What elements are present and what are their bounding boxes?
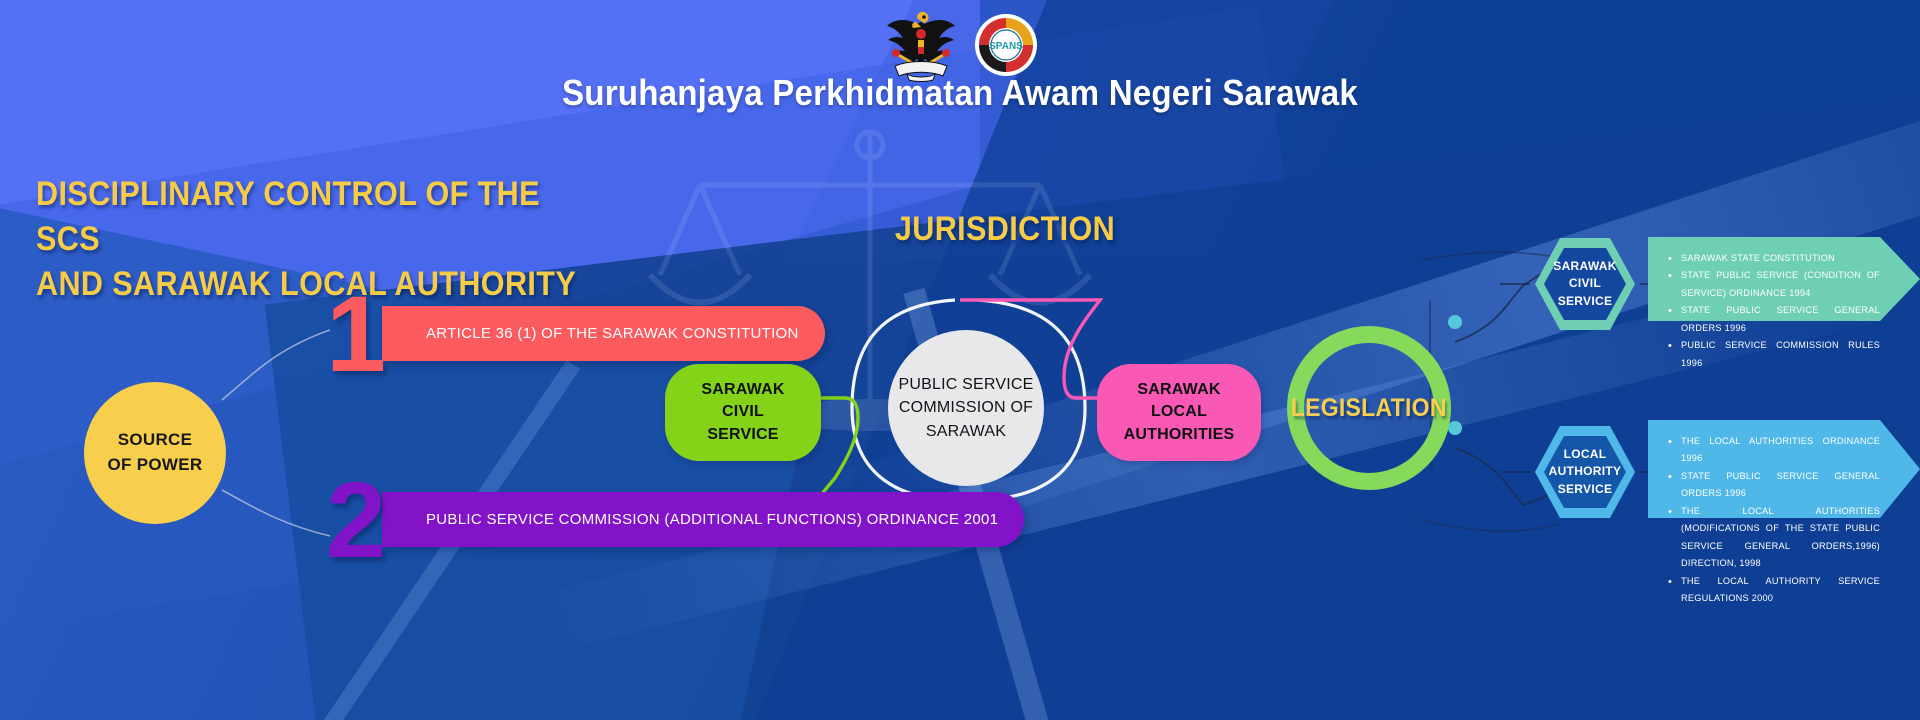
logo-group: SPANS (883, 8, 1037, 82)
background-body-dark (265, 61, 1920, 720)
sarawak-state-crest-icon (883, 8, 959, 82)
list-item: STATE PUBLIC SERVICE GENERAL ORDERS 1996 (1668, 302, 1880, 337)
connector-dot-top (1448, 315, 1462, 329)
hex-local-line-3: SERVICE (1558, 482, 1613, 496)
list-item: THE LOCAL AUTHORITIES (MODIFICATIONS OF … (1668, 503, 1880, 573)
source-item-1: 1 ARTICLE 36 (1) OF THE SARAWAK CONSTITU… (326, 306, 825, 361)
list-item: STATE PUBLIC SERVICE (CONDITION OF SERVI… (1668, 267, 1880, 302)
hexagon-sarawak-civil-service: SARAWAK CIVIL SERVICE (1530, 234, 1640, 334)
page-title: Suruhanjaya Perkhidmatan Awam Negeri Sar… (77, 72, 1843, 114)
hex-civil-line-1: SARAWAK (1553, 259, 1616, 273)
legislation-node: LEGISLATION (1287, 326, 1451, 490)
hex-civil-line-2: CIVIL (1569, 276, 1601, 290)
hexagon-civil-service-label: SARAWAK CIVIL SERVICE (1553, 258, 1616, 310)
list-item: PUBLIC SERVICE COMMISSION RULES 1996 (1668, 337, 1880, 372)
local-authority-legislation-items: THE LOCAL AUTHORITIES ORDINANCE 1996 STA… (1648, 420, 1920, 621)
hexagon-local-authority-service: LOCAL AUTHORITY SERVICE (1530, 422, 1640, 522)
list-item: THE LOCAL AUTHORITY SERVICE REGULATIONS … (1668, 573, 1880, 608)
main-heading-line-1: DISCIPLINARY CONTROL OF THE SCS (36, 172, 612, 262)
source-of-power-line-1: SOURCE (118, 428, 193, 453)
legislation-list-civil-service: SARAWAK STATE CONSTITUTION STATE PUBLIC … (1648, 237, 1920, 321)
hexagon-local-authority-label: LOCAL AUTHORITY SERVICE (1549, 446, 1622, 498)
source-of-power-line-2: OF POWER (108, 453, 203, 478)
list-item: SARAWAK STATE CONSTITUTION (1668, 250, 1880, 267)
source-item-2-label: PUBLIC SERVICE COMMISSION (ADDITIONAL FU… (382, 492, 1024, 547)
source-of-power-node: SOURCE OF POWER (84, 382, 226, 524)
public-service-commission-node: PUBLIC SERVICE COMMISSION OF SARAWAK (888, 330, 1044, 486)
connector-dot-bottom (1448, 421, 1462, 435)
main-heading-line-2: AND SARAWAK LOCAL AUTHORITY (36, 262, 612, 307)
legislation-label: LEGISLATION (1291, 394, 1447, 423)
jurisdiction-sarawak-civil-service: SARAWAK CIVIL SERVICE (665, 364, 821, 461)
list-item: THE LOCAL AUTHORITIES ORDINANCE 1996 (1668, 433, 1880, 468)
spans-logo-icon: SPANS (975, 14, 1037, 76)
spans-logo-text: SPANS (989, 41, 1023, 52)
jurisdiction-sarawak-local-authorities: SARAWAK LOCAL AUTHORITIES (1097, 364, 1261, 461)
jurisdiction-heading: JURISDICTION (857, 210, 1154, 249)
source-item-2-number: 2 (326, 466, 382, 574)
hex-local-line-1: LOCAL (1564, 447, 1607, 461)
page-header: SPANS Suruhanjaya Perkhidmatan Awam Nege… (0, 0, 1920, 140)
source-item-1-label: ARTICLE 36 (1) OF THE SARAWAK CONSTITUTI… (382, 306, 825, 361)
hex-local-line-2: AUTHORITY (1549, 464, 1622, 478)
list-item: STATE PUBLIC SERVICE GENERAL ORDERS 1996 (1668, 468, 1880, 503)
civil-service-legislation-items: SARAWAK STATE CONSTITUTION STATE PUBLIC … (1648, 237, 1920, 385)
hex-civil-line-3: SERVICE (1558, 294, 1613, 308)
source-item-2: 2 PUBLIC SERVICE COMMISSION (ADDITIONAL … (326, 492, 1024, 547)
infographic-canvas: SPANS Suruhanjaya Perkhidmatan Awam Nege… (0, 0, 1920, 720)
legislation-list-local-authority: THE LOCAL AUTHORITIES ORDINANCE 1996 STA… (1648, 420, 1920, 518)
main-heading: DISCIPLINARY CONTROL OF THE SCS AND SARA… (36, 172, 612, 308)
source-item-1-number: 1 (326, 280, 382, 388)
